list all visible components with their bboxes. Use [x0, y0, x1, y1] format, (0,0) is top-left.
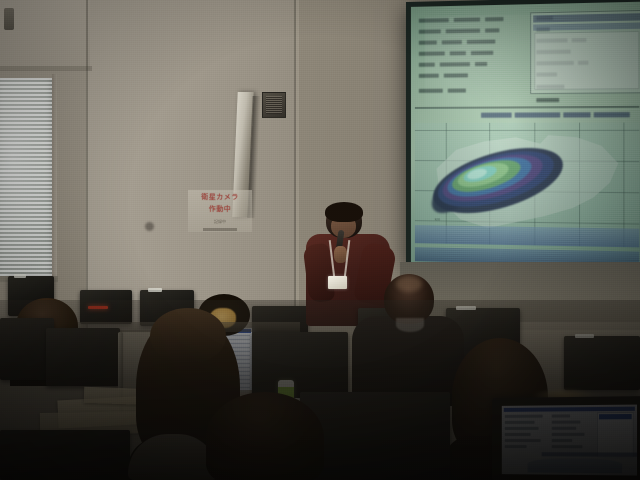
presenter-hair	[325, 202, 363, 222]
wall-seam	[86, 0, 88, 330]
slide-row	[419, 86, 532, 94]
wall-speaker	[262, 92, 286, 118]
ceiling-edge	[0, 66, 92, 71]
monitor-label	[148, 288, 162, 292]
wall-seam-highlight	[296, 0, 299, 330]
sign-line-1: 衛星カメラ	[201, 192, 239, 202]
slide-row	[419, 37, 532, 46]
slide-row	[419, 26, 532, 35]
panel-subbar	[533, 23, 640, 31]
window-frame	[52, 74, 57, 282]
sign-caption: 記録中	[214, 219, 226, 225]
hair-highlight	[396, 276, 422, 292]
screen-surface: km	[411, 2, 640, 269]
photo-scene: 衛星カメラ 作動中 記録中	[0, 0, 640, 480]
map-axis-label: km	[435, 216, 440, 221]
sign-bar	[203, 228, 237, 231]
speaker-grill-icon	[266, 96, 282, 114]
blinds-slats	[0, 78, 54, 278]
slide-row	[419, 71, 532, 79]
room-shadow-overlay	[0, 300, 640, 480]
slide-divider	[415, 106, 640, 109]
contour-plume-map: km	[415, 123, 640, 248]
wall-mark	[145, 222, 154, 231]
slide-left-column	[419, 14, 532, 97]
projection-screen: km	[406, 0, 640, 274]
slide-row	[419, 59, 532, 67]
red-warning-sign: 衛星カメラ 作動中 記録中	[188, 190, 252, 232]
wall-column-left	[86, 0, 296, 330]
slide-row	[536, 96, 626, 104]
venetian-blinds-window	[0, 78, 54, 278]
slide-upper-half	[411, 2, 640, 105]
panel-body	[534, 31, 639, 90]
sign-line-2: 作動中	[209, 204, 232, 214]
monitor-label	[14, 274, 26, 278]
ceiling-hook-icon	[4, 8, 14, 30]
panel-titlebar	[533, 13, 640, 22]
name-badge	[328, 276, 347, 289]
slide-row	[419, 48, 532, 57]
slide-row	[419, 14, 532, 23]
slide-side-panel	[530, 10, 640, 94]
slide-caption	[481, 110, 637, 120]
map-lower-band	[415, 225, 640, 247]
